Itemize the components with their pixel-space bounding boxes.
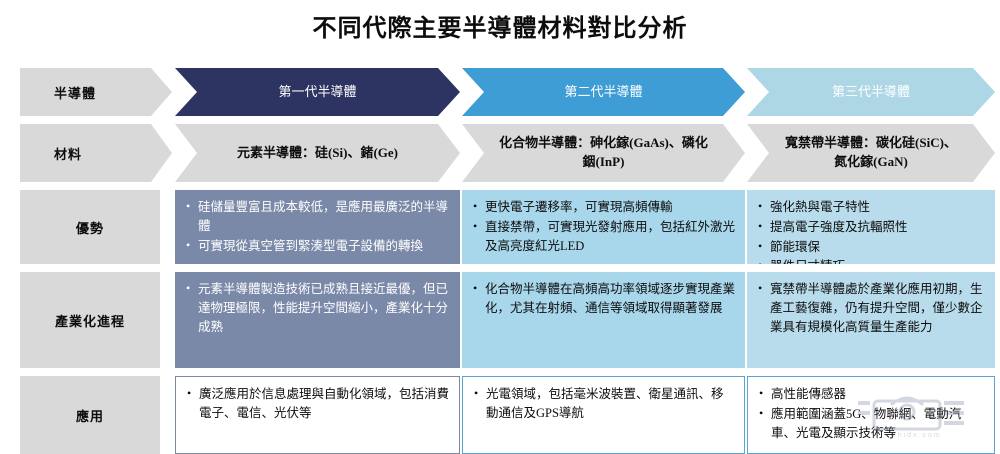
table-row-industrialization: 產業化進程 元素半導體製造技術已成熟且接近最優，但已達物理極限，性能提升空間縮小… (20, 272, 995, 368)
gen1-advantage-cell: 硅儲量豐富且成本較低，是應用最廣泛的半導體可實現從真空管到緊湊型電子設備的轉換 (175, 190, 460, 264)
gen3-application-list: 高性能傳感器應用範圍涵蓋5G、物聯網、電動汽車、光電及顯示技術等 (758, 385, 984, 442)
list-item: 元素半導體製造技術已成熟且接近最優，但已達物理極限，性能提升空間縮小，產業化十分… (185, 280, 450, 336)
gen2-header-chevron: 第二代半導體 (462, 68, 745, 116)
gen1-material-chevron: 元素半導體：硅(Si)、鍺(Ge) (175, 124, 460, 182)
gen2-advantage-cell: 更快電子遷移率，可實現高頻傳輸直接禁帶，可實現光發射應用，包括紅外激光及高亮度紅… (462, 190, 745, 264)
gen2-application-list: 光電領域，包括毫米波裝置、衛星通訊、移動通信及GPS導航 (473, 385, 734, 423)
table-row-advantage: 優勢 硅儲量豐富且成本較低，是應用最廣泛的半導體可實現從真空管到緊湊型電子設備的… (20, 190, 995, 264)
gen1-header-chevron: 第一代半導體 (175, 68, 460, 116)
gen1-application-list: 廣泛應用於信息處理與自動化領域，包括消費電子、電信、光伏等 (186, 385, 449, 423)
gen1-advantage-list: 硅儲量豐富且成本較低，是應用最廣泛的半導體可實現從真空管到緊湊型電子設備的轉換 (185, 198, 450, 255)
row-label-application: 應用 (20, 376, 160, 454)
list-item: 廣泛應用於信息處理與自動化領域，包括消費電子、電信、光伏等 (186, 385, 449, 423)
gen2-material-chevron: 化合物半導體：砷化鎵(GaAs)、磷化銦(InP) (462, 124, 745, 182)
list-item: 節能環保 (757, 238, 985, 257)
row-label-advantage: 優勢 (20, 190, 160, 264)
list-item: 強化熱與電子特性 (757, 198, 985, 217)
comparison-table: 半導體 第一代半導體 第二代半導體 第三代半導體 材料 元素半導體：硅(Si)、… (20, 68, 995, 454)
gen2-industrialization-list: 化合物半導體在高頻高功率領域逐步實現產業化，尤其在射頻、通信等領域取得顯著發展 (472, 280, 735, 318)
list-item: 提高電子強度及抗輻照性 (757, 218, 985, 237)
list-item: 器件尺寸精巧 (757, 257, 985, 264)
list-item: 硅儲量豐富且成本較低，是應用最廣泛的半導體 (185, 198, 450, 236)
slide-canvas: 不同代際主要半導體材料對比分析 半導體 第一代半導體 第二代半導體 第三代半導體… (0, 0, 1000, 454)
list-item: 高性能傳感器 (758, 385, 984, 404)
row-label-material: 材料 (20, 124, 172, 182)
row-label-industrialization: 產業化進程 (20, 272, 160, 368)
gen1-application-cell: 廣泛應用於信息處理與自動化領域，包括消費電子、電信、光伏等 (175, 376, 460, 454)
gen3-application-cell: 高性能傳感器應用範圍涵蓋5G、物聯網、電動汽車、光電及顯示技術等 (747, 376, 995, 454)
gen3-material-chevron: 寬禁帶半導體：碳化硅(SiC)、氮化鎵(GaN) (747, 124, 995, 182)
row-label-semiconductor: 半導體 (20, 68, 172, 116)
gen2-industrialization-cell: 化合物半導體在高頻高功率領域逐步實現產業化，尤其在射頻、通信等領域取得顯著發展 (462, 272, 745, 368)
list-item: 更快電子遷移率，可實現高頻傳輸 (472, 198, 735, 217)
table-row-application: 應用 廣泛應用於信息處理與自動化領域，包括消費電子、電信、光伏等 光電領域，包括… (20, 376, 995, 454)
gen3-header-chevron: 第三代半導體 (747, 68, 995, 116)
gen1-industrialization-cell: 元素半導體製造技術已成熟且接近最優，但已達物理極限，性能提升空間縮小，產業化十分… (175, 272, 460, 368)
list-item: 直接禁帶，可實現光發射應用，包括紅外激光及高亮度紅光LED (472, 218, 735, 256)
gen2-advantage-list: 更快電子遷移率，可實現高頻傳輸直接禁帶，可實現光發射應用，包括紅外激光及高亮度紅… (472, 198, 735, 255)
gen3-advantage-cell: 強化熱與電子特性提高電子強度及抗輻照性節能環保器件尺寸精巧 (747, 190, 995, 264)
gen2-application-cell: 光電領域，包括毫米波裝置、衛星通訊、移動通信及GPS導航 (462, 376, 745, 454)
list-item: 光電領域，包括毫米波裝置、衛星通訊、移動通信及GPS導航 (473, 385, 734, 423)
page-title: 不同代際主要半導體材料對比分析 (0, 8, 1000, 43)
gen1-industrialization-list: 元素半導體製造技術已成熟且接近最優，但已達物理極限，性能提升空間縮小，產業化十分… (185, 280, 450, 336)
table-row-semiconductor: 半導體 第一代半導體 第二代半導體 第三代半導體 (20, 68, 995, 116)
gen3-industrialization-list: 寬禁帶半導體處於產業化應用初期，生產工藝復雜，仍有提升空間，僅少數企業具有規模化… (757, 280, 985, 336)
list-item: 寬禁帶半導體處於產業化應用初期，生產工藝復雜，仍有提升空間，僅少數企業具有規模化… (757, 280, 985, 336)
list-item: 化合物半導體在高頻高功率領域逐步實現產業化，尤其在射頻、通信等領域取得顯著發展 (472, 280, 735, 318)
gen3-advantage-list: 強化熱與電子特性提高電子強度及抗輻照性節能環保器件尺寸精巧 (757, 198, 985, 264)
list-item: 可實現從真空管到緊湊型電子設備的轉換 (185, 237, 450, 256)
table-row-material: 材料 元素半導體：硅(Si)、鍺(Ge) 化合物半導體：砷化鎵(GaAs)、磷化… (20, 124, 995, 182)
list-item: 應用範圍涵蓋5G、物聯網、電動汽車、光電及顯示技術等 (758, 405, 984, 443)
gen3-industrialization-cell: 寬禁帶半導體處於產業化應用初期，生產工藝復雜，仍有提升空間，僅少數企業具有規模化… (747, 272, 995, 368)
